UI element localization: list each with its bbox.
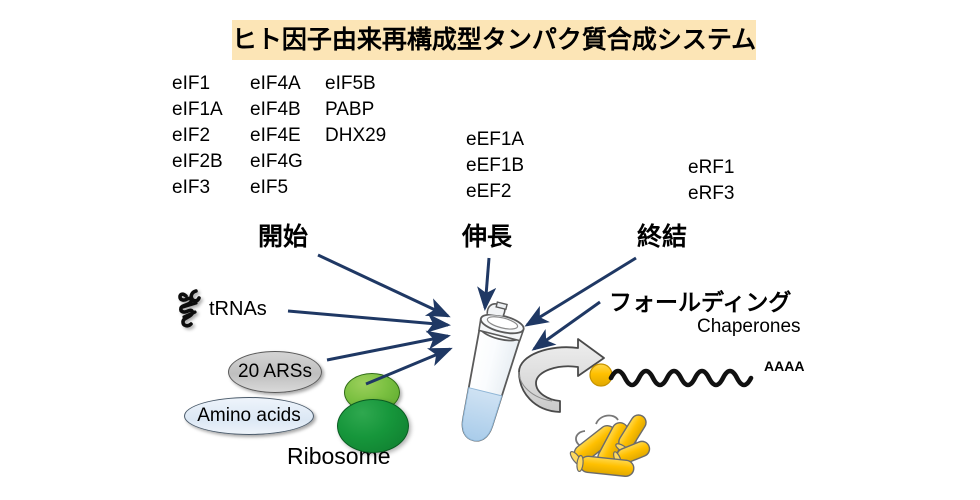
ars-label: 20 ARSs (238, 361, 312, 383)
factor-item: eIF5 (250, 175, 303, 201)
factor-item: eIF1 (172, 71, 223, 97)
initiation-factor-column-1: eIF1 eIF1A eIF2 eIF2B eIF3 (172, 71, 223, 201)
elongation-factor-column: eEF1A eEF1B eEF2 (466, 127, 524, 205)
production-curved-arrow (519, 339, 604, 412)
termination-factor-column: eRF1 eRF3 (688, 155, 734, 207)
title-banner: ヒト因子由来再構成型タンパク質合成システム (232, 20, 756, 60)
factor-item: eRF3 (688, 181, 734, 207)
chaperones-label: Chaperones (697, 317, 801, 336)
mrna-icon (590, 364, 751, 386)
factor-item: eIF4A (250, 71, 303, 97)
factor-item: eEF1A (466, 127, 524, 153)
factor-item: eIF5B (325, 71, 386, 97)
initiation-factor-column-3: eIF5B PABP DHX29 (325, 71, 386, 149)
folding-arrow (534, 302, 600, 349)
polya-tail-label: AAAA (764, 359, 804, 373)
factor-item: eIF4E (250, 123, 303, 149)
factor-item: PABP (325, 97, 386, 123)
stage-label-termination: 終結 (637, 225, 687, 250)
factor-item: eIF1A (172, 97, 223, 123)
factor-item: DHX29 (325, 123, 386, 149)
factor-item: eIF4B (250, 97, 303, 123)
factor-item: eEF1B (466, 153, 524, 179)
factor-item: eIF2B (172, 149, 223, 175)
trna-icon (180, 291, 199, 326)
factor-item: eIF3 (172, 175, 223, 201)
factor-item: eIF2 (172, 123, 223, 149)
ribosome-large-subunit-icon (337, 399, 409, 453)
folded-protein-icon (568, 412, 651, 477)
stage-label-elongation: 伸長 (462, 225, 512, 250)
stage-label-folding: フォールディング (609, 291, 791, 314)
amino-acids-label: Amino acids (197, 405, 301, 427)
ars-ellipse: 20 ARSs (228, 351, 322, 393)
factor-item: eIF4G (250, 149, 303, 175)
initiation-arrow (318, 255, 448, 316)
factor-item: eRF1 (688, 155, 734, 181)
amino-acids-ellipse: Amino acids (184, 397, 314, 435)
stage-label-initiation: 開始 (258, 225, 308, 250)
initiation-factor-column-2: eIF4A eIF4B eIF4E eIF4G eIF5 (250, 71, 303, 201)
slide-canvas: ヒト因子由来再構成型タンパク質合成システム eIF1 eIF1A eIF2 eI… (0, 0, 980, 500)
ars-arrow (327, 336, 448, 360)
factor-item: eEF2 (466, 179, 524, 205)
microcentrifuge-tube-icon (452, 299, 529, 445)
trna-arrow (288, 311, 448, 325)
page-title: ヒト因子由来再構成型タンパク質合成システム (232, 28, 756, 53)
elongation-arrow (485, 258, 489, 308)
trnas-label: tRNAs (209, 299, 267, 319)
